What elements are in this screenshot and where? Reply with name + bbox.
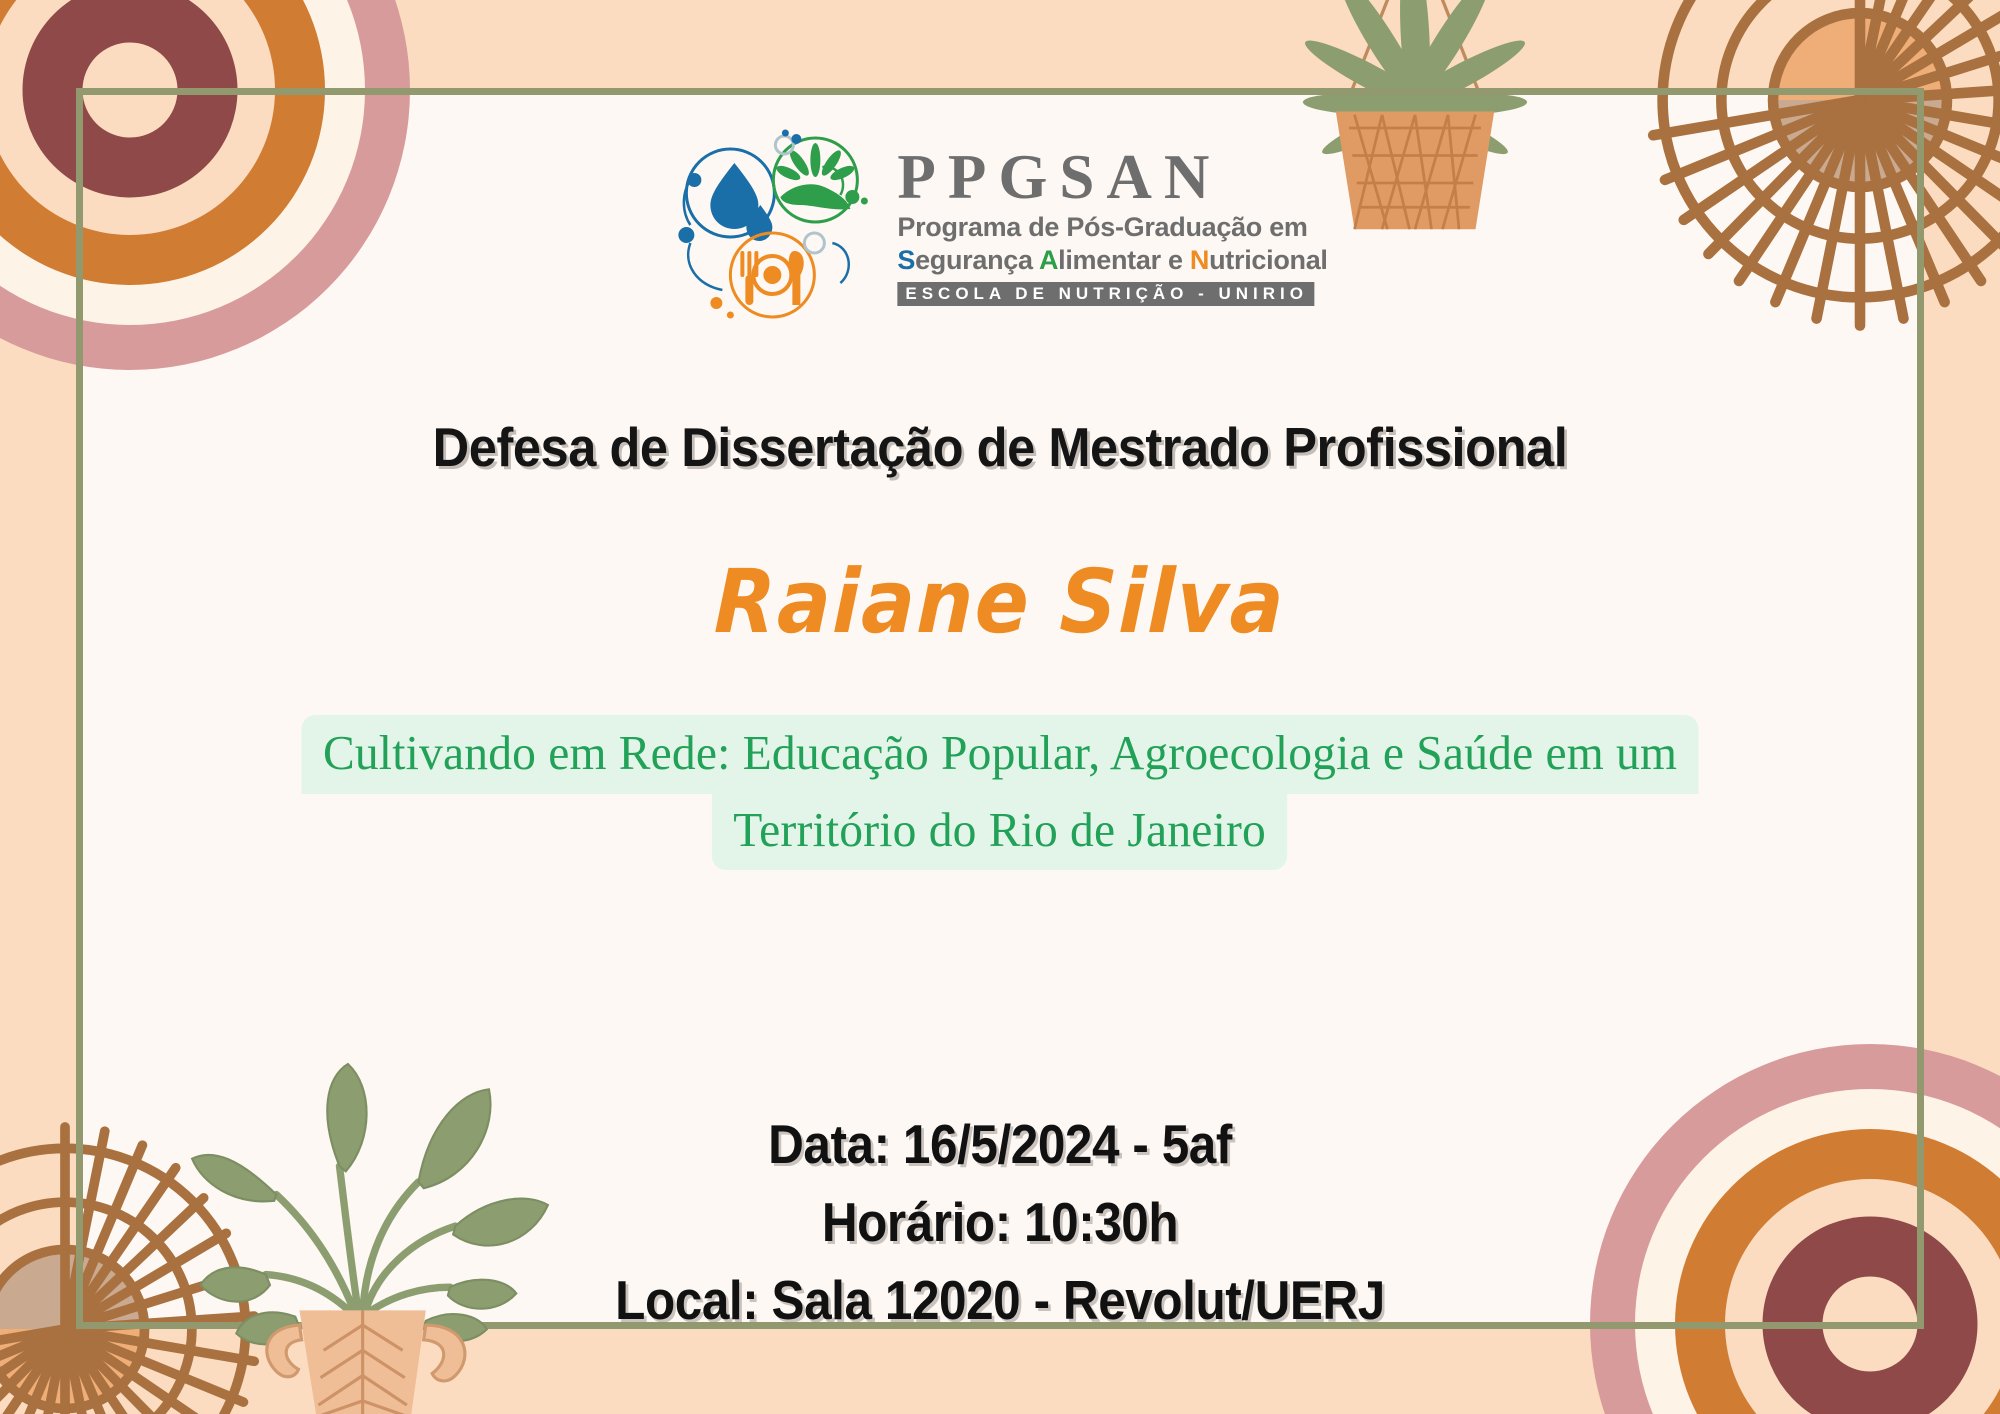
event-details: Data: 16/5/2024 - 5af Horário: 10:30h Lo… (175, 1105, 1826, 1339)
thesis-title: Cultivando em Rede: Educação Popular, Ag… (83, 715, 1917, 870)
ppgsan-logo: PPGSAN Programa de Pós-Graduação em Segu… (672, 125, 1327, 325)
thesis-title-line-1: Cultivando em Rede: Educação Popular, Ag… (302, 715, 1699, 794)
event-heading: Defesa de Dissertação de Mestrado Profis… (156, 415, 1843, 479)
event-location: Local: Sala 12020 - Revolut/UERJ (175, 1261, 1826, 1339)
frame-border-left (76, 88, 83, 1329)
logo-school-band: ESCOLA DE NUTRIÇÃO - UNIRIO (897, 282, 1314, 306)
frame-border-top (76, 88, 1924, 95)
event-poster: PPGSAN Programa de Pós-Graduação em Segu… (0, 0, 2000, 1414)
logo-subtitle-line2: Segurança Alimentar e Nutricional (897, 244, 1327, 277)
logo-acronym: PPGSAN (897, 144, 1327, 210)
rattan-fan-top-right-decoration (1625, 0, 2000, 335)
logo-subtitle-line1: Programa de Pós-Graduação em (897, 211, 1327, 244)
ppgsan-logo-mark (672, 125, 887, 325)
event-time: Horário: 10:30h (175, 1183, 1826, 1261)
thesis-title-line-2: Território do Rio de Janeiro (712, 792, 1287, 871)
frame-border-right (1917, 88, 1924, 1329)
ppgsan-logo-text: PPGSAN Programa de Pós-Graduação em Segu… (897, 144, 1327, 305)
student-name: Raiane Silva (173, 550, 1827, 653)
event-date: Data: 16/5/2024 - 5af (175, 1105, 1826, 1183)
concentric-arcs-top-left-decoration (0, 0, 410, 370)
